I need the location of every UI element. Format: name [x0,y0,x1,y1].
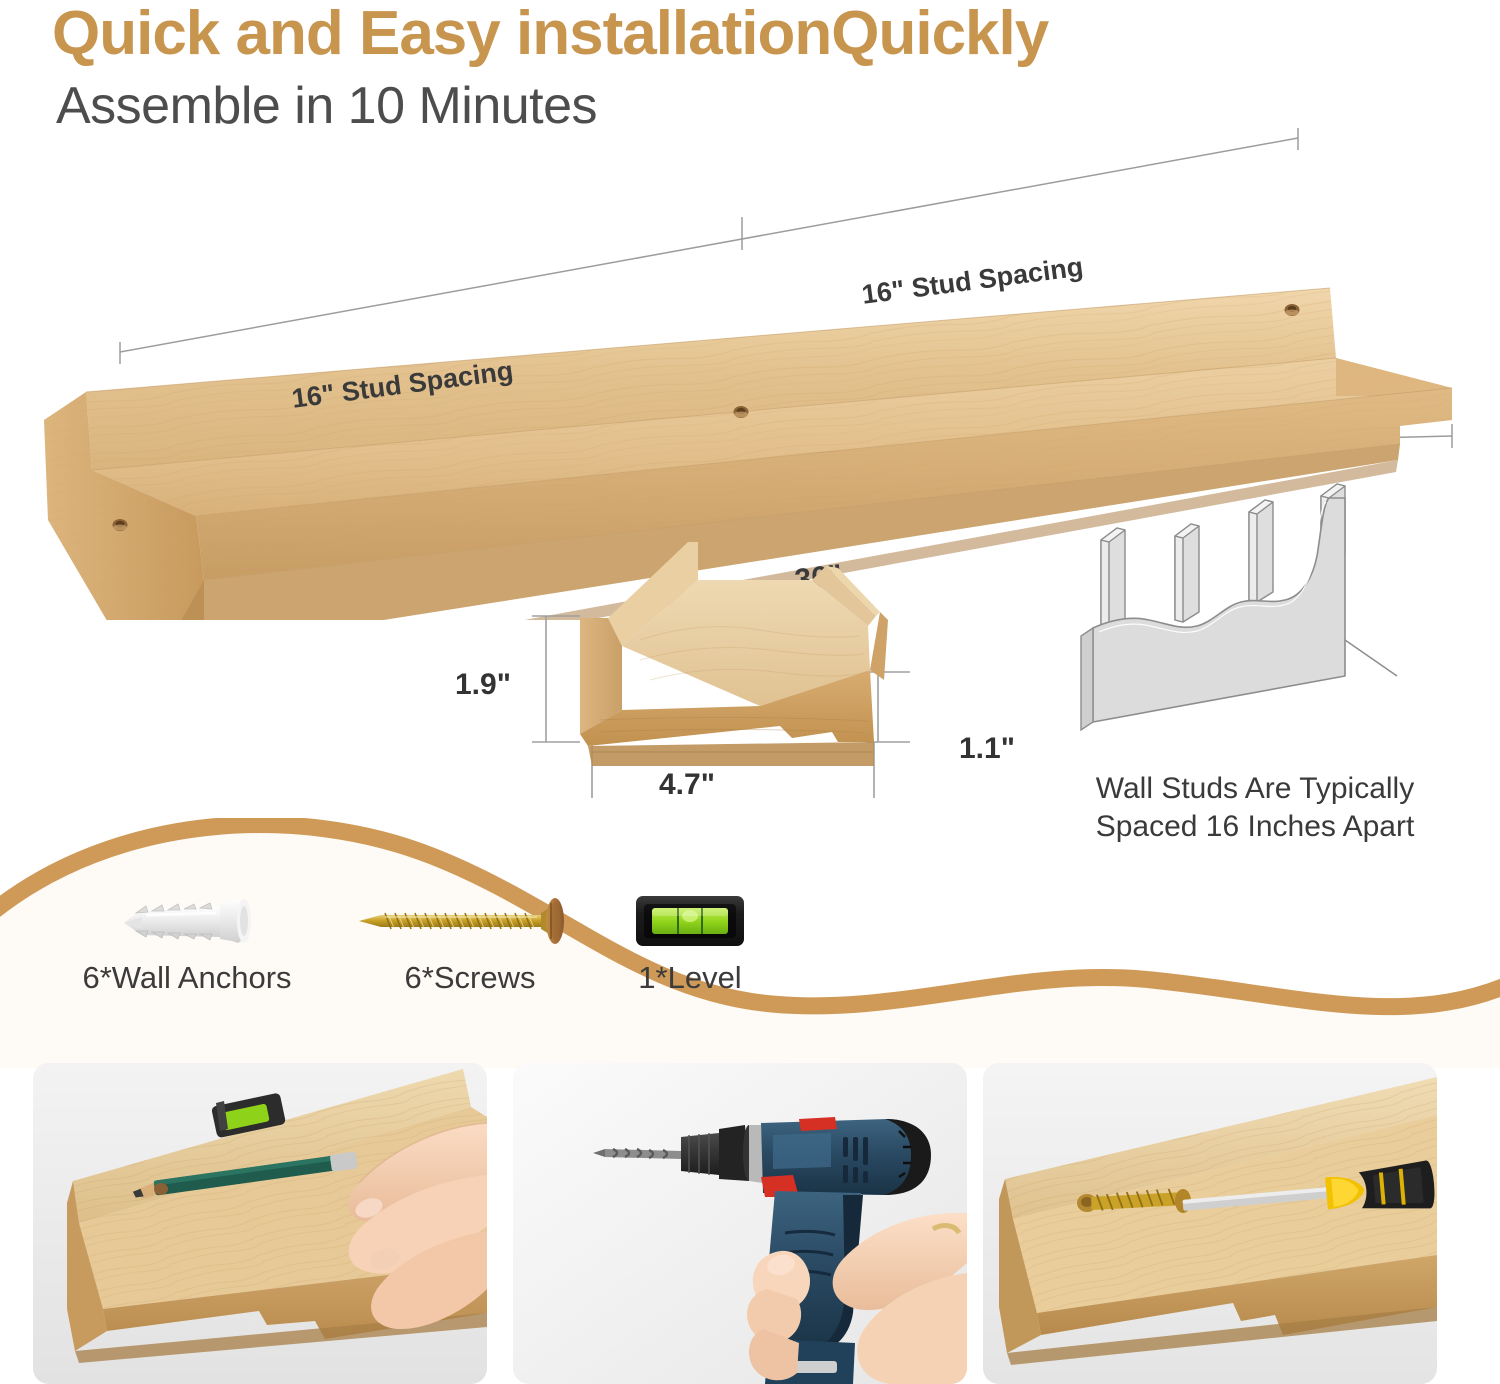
part-label: 1*Level [620,960,760,996]
screw-icon [355,893,585,949]
cross-section-photo [440,520,1060,820]
stud-caption-line-1: Wall Studs Are Typically [1040,770,1470,808]
part-level: 1*Level [620,890,760,996]
step-photo-mark-holes [33,1063,487,1384]
cross-height-label: 1.9" [455,668,511,702]
wall-stud [1249,500,1273,602]
installation-steps [0,1063,1500,1384]
step-photo-drill-wall [513,1063,967,1384]
bubble-level-icon [630,892,750,950]
part-screws: 6*Screws [350,890,590,996]
wall-anchor-icon [112,893,262,949]
screw-hole [734,406,749,418]
cross-section-illustration: 1.9" 1.1" 4.7" [440,520,1060,820]
parts-list: 6*Wall Anchors [0,890,1500,1030]
step-photo-drive-screw [983,1063,1437,1384]
screw-hole [1285,304,1300,316]
floor-line [1345,640,1397,676]
wall-stud [1101,528,1125,630]
wall-stud [1175,524,1199,622]
wall-stud-drawing [1045,480,1465,780]
screw-hole [113,519,128,531]
cross-depth-label: 4.7" [659,768,715,802]
part-wall-anchors: 6*Wall Anchors [72,890,302,996]
page-title: Quick and Easy installationQuickly [52,0,1048,69]
cross-lip-height-label: 1.1" [959,732,1015,766]
part-label: 6*Screws [350,960,590,996]
part-label: 6*Wall Anchors [72,960,302,996]
infographic-page: Quick and Easy installationQuickly Assem… [0,0,1500,1384]
